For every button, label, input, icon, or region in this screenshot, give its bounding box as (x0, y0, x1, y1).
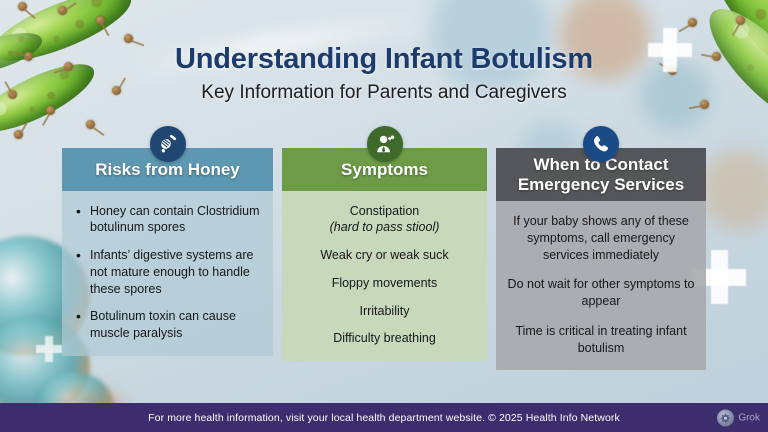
infographic-canvas: Understanding Infant Botulism Key Inform… (0, 0, 768, 432)
column-body-risks-from-honey: Honey can contain Clostridium botulinum … (62, 191, 273, 356)
title-block: Understanding Infant Botulism Key Inform… (0, 44, 768, 104)
column-risks-from-honey: Risks from Honey Honey can contain Clost… (62, 148, 273, 356)
bokeh-blob (700, 150, 768, 230)
symptom-note: (hard to pass stiool) (292, 219, 477, 236)
page-title: Understanding Infant Botulism (0, 44, 768, 76)
symptom-text: Constipation (350, 204, 420, 218)
column-header-emergency: When to Contact Emergency Services (496, 148, 706, 201)
spore-dot (736, 16, 745, 25)
list-item: Weak cry or weak suck (292, 247, 477, 264)
list-item: Infants’ digestive systems are not matur… (88, 247, 263, 297)
column-body-symptoms: Constipation (hard to pass stiool) Weak … (282, 191, 487, 362)
column-body-emergency: If your baby shows any of these symptoms… (496, 201, 706, 370)
page-subtitle: Key Information for Parents and Caregive… (0, 82, 768, 104)
grok-badge-icon (717, 409, 734, 426)
column-header-symptoms: Symptoms (282, 148, 487, 191)
spore-dot (14, 130, 23, 139)
spore-dot (46, 106, 55, 115)
column-heading-text: Risks from Honey (95, 160, 240, 179)
columns-container: Risks from Honey Honey can contain Clost… (62, 148, 706, 370)
emergency-instruction-list: If your baby shows any of these symptoms… (506, 213, 696, 356)
symptoms-list: Constipation (hard to pass stiool) Weak … (292, 203, 477, 348)
spore-dot (18, 2, 27, 11)
grok-watermark-text: Grok (738, 412, 760, 423)
footer-bar: For more health information, visit your … (0, 403, 768, 432)
spore-dot (86, 120, 95, 129)
list-item: Honey can contain Clostridium botulinum … (88, 203, 263, 237)
list-item: Floppy movements (292, 275, 477, 292)
medical-cross-icon (36, 336, 62, 362)
spore-dot (124, 34, 133, 43)
list-item: If your baby shows any of these symptoms… (506, 213, 696, 263)
footer-text: For more health information, visit your … (148, 412, 620, 424)
spore-dot (58, 6, 67, 15)
list-item: Time is critical in treating infant botu… (506, 323, 696, 357)
list-item: Do not wait for other symptoms to appear (506, 276, 696, 310)
column-header-risks-from-honey: Risks from Honey (62, 148, 273, 191)
column-heading-text: Symptoms (341, 160, 428, 179)
list-item: Botulinum toxin can cause muscle paralys… (88, 308, 263, 342)
list-item: Constipation (hard to pass stiool) (292, 203, 477, 237)
phone-icon (583, 126, 619, 162)
honey-dipper-icon (150, 126, 186, 162)
column-when-to-contact-emergency-services: When to Contact Emergency Services If yo… (496, 148, 706, 370)
spore-dot (96, 16, 105, 25)
list-item: Difficulty breathing (292, 330, 477, 347)
spore-dot (688, 18, 697, 27)
grok-watermark: Grok (717, 409, 760, 426)
risks-bullet-list: Honey can contain Clostridium botulinum … (72, 203, 263, 342)
column-symptoms: Symptoms Constipation (hard to pass stio… (282, 148, 487, 361)
patient-person-icon (367, 126, 403, 162)
list-item: Irritability (292, 303, 477, 320)
